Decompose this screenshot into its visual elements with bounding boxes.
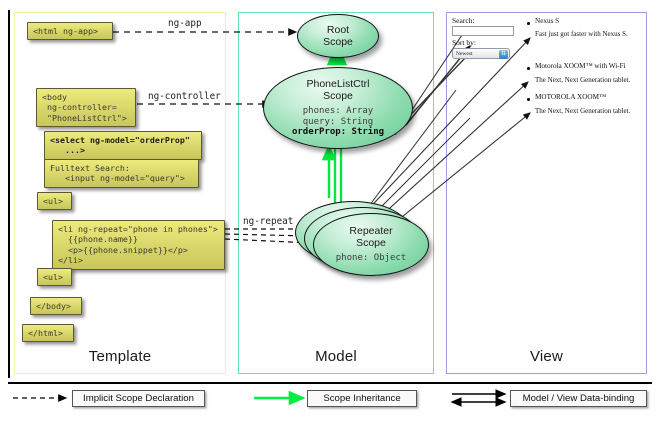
bullet-icon [527,98,530,101]
view-sort-select[interactable]: Newest ⇅ [452,48,510,59]
frame-left-border [8,10,10,378]
edge-label-ng-controller: ng-controller [148,91,221,102]
phonelistctrl-scope-title-2: Scope [323,90,353,102]
phonelistctrl-scope-title-1: PhoneListCtrl [306,78,369,90]
phonelistctrl-prop-orderprop: orderProp: String [292,127,384,138]
root-scope[interactable]: Root Scope [297,14,379,58]
repeater-prop-phone: phone: Object [336,253,406,264]
html-close-box[interactable]: </html> [22,324,74,342]
view-phone-snippet-0: Fast just got faster with Nexus S. [535,30,661,38]
view-panel: Search: Sort by: Newest ⇅ Nexus S Fast j… [452,16,644,126]
phonelistctrl-prop-query: query: String [292,117,384,128]
select-orderprop-box[interactable]: <select ng-model="orderProp" ...> [44,131,202,160]
body-close-box[interactable]: </body> [30,297,82,315]
view-phone-snippet-2: The Next, Next Generation tablet. [535,107,661,115]
view-phone-name-0: Nexus S [535,17,661,25]
fulltext-search-box[interactable]: Fulltext Search: <input ng-model="query"… [44,159,199,188]
diagram-stage: Template Model View [0,0,661,425]
repeater-scope[interactable]: Repeater Scope phone: Object [313,213,429,276]
bullet-icon [527,67,530,70]
view-search-input[interactable] [452,26,514,36]
root-scope-title-2: Scope [323,36,353,48]
phonelistctrl-prop-phones: phones: Array [292,106,384,117]
repeater-scope-title-2: Scope [356,237,386,249]
li-ngrepeat-box[interactable]: <li ng-repeat="phone in phones"> {{phone… [52,220,225,270]
edge-label-ng-app: ng-app [168,18,202,29]
edge-label-ng-repeat: ng-repeat [243,216,293,227]
column-label-view: View [447,348,646,365]
bullet-icon [527,22,530,25]
body-controller-box[interactable]: <body ng-controller= "PhoneListCtrl"> [36,88,136,127]
legend-scope-inheritance: Scope Inheritance [307,390,417,407]
legend-implicit-scope: Implicit Scope Declaration [72,390,205,407]
ul-open-box[interactable]: <ul> [37,192,72,210]
repeater-scope-title-1: Repeater [349,225,392,237]
view-sort-label: Sort by: [452,38,476,47]
view-sort-select-value: Newest [456,51,473,57]
column-label-model: Model [239,348,433,365]
column-label-template: Template [15,348,225,365]
html-tag-box[interactable]: <html ng-app> [27,22,113,40]
ul-close-box[interactable]: <ul> [37,268,72,286]
chevron-updown-icon: ⇅ [499,50,508,59]
legend-data-binding: Model / View Data-binding [510,390,647,407]
frame-bottom-border [8,382,652,384]
view-phone-name-1: Motorola XOOM™ with Wi-Fi [535,62,661,70]
phonelistctrl-scope[interactable]: PhoneListCtrl Scope phones: Array query:… [263,67,413,149]
root-scope-title-1: Root [327,24,349,36]
view-search-label: Search: [452,16,475,25]
view-phone-name-2: MOTOROLA XOOM™ [535,93,661,101]
view-phone-snippet-1: The Next, Next Generation tablet. [535,76,661,84]
